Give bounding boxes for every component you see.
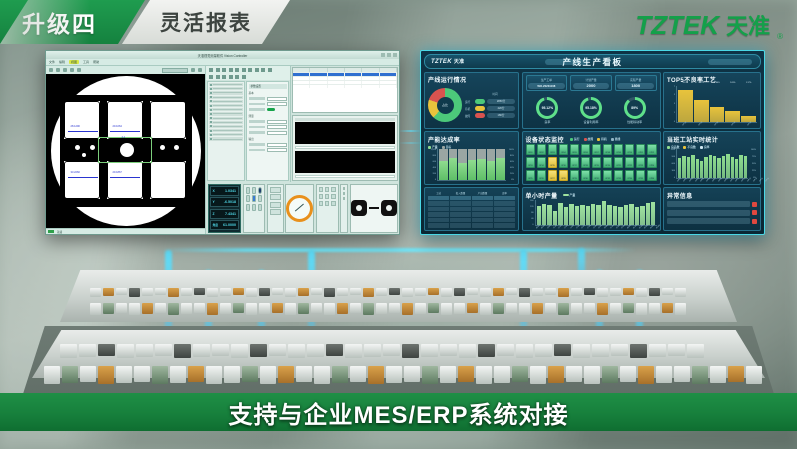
live-image-thumbnail[interactable] [295,122,395,144]
delete-tool-icon[interactable] [261,68,265,72]
factory-machine [278,366,294,383]
equipment-cell[interactable]: OP01 [526,144,536,156]
menu-item-tools[interactable]: 工具 [83,60,89,64]
factory-machine [259,303,270,314]
data-beam-horizontal [160,248,637,252]
preset-button[interactable] [325,194,330,199]
bar-segment [678,158,681,178]
cell [472,196,493,201]
bar [700,149,703,178]
kpi-label: 计划产量 [573,78,610,82]
equipment-cell[interactable]: OP33 [614,170,624,182]
jog-left-icon[interactable] [246,195,251,202]
factory-machine [493,303,504,314]
cell [494,201,515,206]
equipment-cell[interactable]: OP30 [581,170,591,182]
param-input[interactable] [267,102,287,106]
inspection-image-canvas[interactable]: 28.1290 29.1064 4.1 33.2260 29.1867 [46,74,205,228]
factory-machine [710,366,726,383]
equipment-cell[interactable]: OP32 [603,170,613,182]
factory-machine [168,288,179,297]
param-field-name[interactable] [249,143,287,147]
window-controls[interactable] [381,53,397,57]
bar [547,200,551,225]
equipment-cell[interactable]: OP34 [625,170,635,182]
list-item[interactable] [209,133,243,136]
list-item[interactable] [209,117,243,120]
axis-value-x: 1.0341 [221,189,237,193]
top5-y-axis: 75 310 [667,86,676,124]
list-item[interactable] [209,87,243,90]
preset-button[interactable] [319,194,324,199]
table-row[interactable] [293,84,397,88]
param-field-polarity[interactable] [249,102,287,106]
header-chip-datetime [708,59,752,65]
part-web [186,95,192,207]
list-item[interactable] [667,218,757,224]
param-field-subpixel[interactable] [249,108,287,112]
factory-machine [272,288,283,295]
preset-button[interactable] [331,187,336,192]
list-item[interactable] [209,91,243,94]
measurement-step-list[interactable] [207,81,245,181]
minimize-icon[interactable] [381,53,385,57]
legend-swatch [611,138,614,141]
param-input[interactable] [267,97,287,101]
bar [744,149,747,178]
legend-item-fault: 故障 180分 [465,113,515,118]
jog-home-icon[interactable] [252,195,257,202]
vision-menubar[interactable]: 文件 编辑 视图 工具 帮助 [46,59,399,66]
factory-machine [636,288,647,297]
legend-swatch-red [475,113,485,118]
shape-tool-row[interactable] [206,66,290,73]
list-item[interactable] [209,125,243,128]
table-row[interactable] [428,207,515,212]
step-unit-field[interactable] [270,209,281,215]
step-decrease-icon[interactable] [270,194,281,200]
factory-machine [134,366,150,382]
line-status-donut-chart: 占比 [428,88,462,122]
list-item[interactable] [209,100,243,103]
shift-y2-axis: 100%75% 50%25%0% [748,149,757,179]
step-increase-icon[interactable] [270,187,281,193]
equipment-cell[interactable]: OP28 [559,170,569,182]
y-tick: 600 [672,163,675,165]
focus-dial[interactable] [286,195,313,222]
bar [580,200,584,225]
alarm-list[interactable] [667,201,757,228]
run-tool-row[interactable] [206,73,290,80]
equipment-cell[interactable]: OP27 [548,170,558,182]
factory-machine [476,366,492,384]
jog-down-right-icon[interactable] [258,204,263,211]
jog-up-left-icon[interactable] [246,187,251,194]
factory-machine [638,366,654,384]
bar-segment-output [468,160,477,180]
param-field-unit[interactable] [249,148,287,152]
reference-image-thumbnail[interactable] [295,151,395,173]
gauge-value: 95.18% [585,106,597,110]
connector-bar-icon [369,207,379,210]
capacity-chart: 1,000800 600400 2000 100%80% 60%40% 20%0… [428,149,515,181]
panel-kpi-gauges: 生产工单 WO-20231108 计划产量 2000 实际产量 1800 95.… [522,72,661,129]
kpi-label: 实际产量 [617,78,654,82]
legend-idle: 待机 [597,137,607,141]
results-table[interactable] [292,67,398,113]
param-input[interactable] [267,125,287,129]
pan-icon[interactable] [63,68,67,72]
slider-track[interactable] [343,192,345,195]
new-icon[interactable] [209,75,213,79]
list-item[interactable] [667,201,757,207]
bar [709,149,712,178]
factory-machine [345,344,362,358]
equipment-cell[interactable]: OP24 [647,157,657,169]
viewport-toolbar[interactable] [46,66,205,74]
line-tool-icon[interactable] [216,68,220,72]
factory-machine [620,366,636,382]
factory-machine [532,288,543,296]
run-icon[interactable] [229,75,233,79]
cursor-icon[interactable] [49,68,53,72]
factory-machine [194,303,205,313]
equipment-cell[interactable]: OP29 [570,170,580,182]
list-item[interactable] [209,129,243,132]
registered-trademark-icon: ® [777,32,783,41]
list-item[interactable] [667,210,757,216]
preset-row[interactable] [319,201,336,206]
factory-machine [368,366,384,384]
step-icon[interactable] [242,75,246,79]
equipment-cell[interactable]: OP36 [647,170,657,182]
factory-machine [193,344,210,357]
cell [310,85,327,88]
save-icon[interactable] [222,75,226,79]
cell [428,196,449,201]
rect-tool-icon[interactable] [242,68,246,72]
more-tool-icon[interactable] [268,68,272,72]
factory-machine [220,303,231,314]
legend-swatch-green [475,99,485,104]
bar-segment [553,211,557,225]
polygon-tool-icon[interactable] [248,68,252,72]
factory-machine [116,303,127,313]
line-status-legend: 时间 运行 2850分 待机 420分 故障 [465,92,515,118]
menu-item-file[interactable]: 文件 [49,60,55,64]
equipment-cell[interactable]: OP04 [559,144,569,156]
bar-segment [726,154,729,178]
legend-text: 产量 [570,193,576,197]
equipment-cell[interactable]: OP23 [636,157,646,169]
arc-tool-icon[interactable] [229,68,233,72]
list-item[interactable] [209,108,243,111]
jog-pad[interactable] [243,184,266,233]
bar [726,149,729,178]
factory-machine [692,366,708,384]
gauge-ring: 95.12% [536,97,558,119]
equipment-cell[interactable]: OP16 [559,157,569,169]
jog-down-icon[interactable] [252,204,257,211]
factory-machine [311,303,322,313]
preset-button[interactable] [331,194,336,199]
cell [328,85,345,88]
image-compare-pane [292,115,398,182]
light-intensity-panel[interactable] [340,184,348,233]
bar [722,149,725,178]
machine-row-upper [90,303,686,315]
dashboard-bottom-row: 工站 投入数量 产出数量 良率 单小时产量 产量 [424,187,761,231]
param-field-tolerance[interactable] [249,131,287,135]
factory-machine [117,344,134,358]
cell [472,218,493,223]
list-item[interactable] [209,104,243,107]
dimension-label: 33.2260 [71,171,80,174]
status-text: 就绪 [57,230,62,234]
col-yield: 良率 [494,191,515,195]
equipment-cell[interactable]: OP35 [636,170,646,182]
axis-label-x: X [213,189,221,193]
jog-up-icon[interactable] [252,187,257,194]
panel-top5-defects: TOP5不良率工艺 75 310 6.12%4.27%2.86%2.05%1.1… [663,72,761,129]
zoom-icon[interactable] [56,68,60,72]
equipment-cell[interactable]: OP08 [603,144,613,156]
preset-row[interactable] [319,194,336,199]
bar [553,200,557,225]
preset-button[interactable] [325,187,330,192]
menu-item-help[interactable]: 帮助 [93,60,99,64]
equipment-cell[interactable]: OP20 [603,157,613,169]
factory-machine [233,288,244,295]
caption-banner: 支持与企业MES/ERP系统对接 [0,393,797,431]
param-input[interactable] [267,143,287,147]
equipment-cell[interactable]: OP13 [526,157,536,169]
equipment-cell[interactable]: OP10 [625,144,635,156]
param-input[interactable] [267,148,287,152]
legend-swatch [597,138,600,141]
table-row[interactable] [428,218,515,223]
factory-machine [272,303,283,313]
roi-selection-box[interactable] [98,137,152,163]
factory-machine [519,303,530,315]
menu-item-view[interactable]: 视图 [69,60,79,64]
equipment-cell[interactable]: OP17 [570,157,580,169]
table-row[interactable] [428,201,515,206]
factory-machine [623,303,634,313]
equipment-cell[interactable]: OP15 [548,157,558,169]
measure-icon[interactable] [70,68,74,72]
bar [735,149,738,178]
list-item[interactable] [209,96,243,99]
factory-machine [246,303,257,315]
bar-segment [709,155,712,178]
equipment-cell[interactable]: OP18 [581,157,591,169]
factory-machine [415,288,426,296]
param-toggle[interactable] [267,108,275,112]
preset-button[interactable] [325,201,330,206]
factory-machine [548,366,564,383]
bar [682,149,685,178]
equipment-cell[interactable]: OP22 [625,157,635,169]
factory-machine [662,288,673,295]
bar-segment [731,157,734,178]
preset-button[interactable] [331,201,336,206]
equipment-cell[interactable]: OP12 [647,144,657,156]
bar-segment [687,157,690,178]
list-item[interactable] [209,137,243,140]
part-corner-hole [66,103,73,110]
bar-segment [651,202,655,224]
cell [472,207,493,212]
bar-segment [596,205,600,224]
bar-segment [646,203,650,225]
equipment-cell[interactable]: OP21 [614,157,624,169]
step-size-panel[interactable] [267,184,284,233]
close-icon[interactable] [393,53,397,57]
step-value-field[interactable] [270,202,281,208]
preset-row[interactable] [319,187,336,192]
equipment-legend: 运行 故障 待机 离线 [570,137,620,141]
bar-segment-output [458,163,467,180]
factory-machine [597,303,608,315]
equipment-cell[interactable]: OP14 [537,157,547,169]
table-row[interactable] [428,212,515,217]
preset-button-grid[interactable] [316,184,339,233]
part-web [60,95,192,101]
param-field-threshold[interactable] [249,97,287,101]
cell [450,207,471,212]
bar-segment [744,156,747,178]
param-field-radius[interactable] [249,120,287,124]
part-outline: 28.1290 29.1064 4.1 33.2260 29.1867 [60,95,192,207]
station-table[interactable]: 工站 投入数量 产出数量 良率 [428,191,515,228]
legend-value: 180分 [487,113,515,118]
preset-button[interactable] [319,201,324,206]
param-input[interactable] [267,131,287,135]
list-item[interactable] [209,83,243,86]
factory-machine [174,344,191,358]
jog-settings-gear-icon[interactable] [258,187,263,194]
brand-mark-text: TZTEK [635,10,719,41]
equipment-cell[interactable]: OP09 [614,144,624,156]
param-input[interactable] [267,120,287,124]
equipment-cell[interactable]: OP02 [537,144,547,156]
bar-value-label: 2.86% [714,82,719,84]
equipment-cell[interactable]: OP31 [592,170,602,182]
parameter-form[interactable]: 参数设置 基本 [246,81,289,181]
point-tool-icon[interactable] [209,68,213,72]
factory-machine [630,344,647,358]
production-dashboard-window[interactable]: TZTEK天准 产线生产看板 产线运行情况 占比 时间 运行 [420,50,765,235]
jog-down-left-icon[interactable] [246,204,251,211]
legend-item-idle: 待机 420分 [465,106,515,111]
equipment-cell[interactable]: OP25 [526,170,536,182]
light-bulb-icon[interactable] [77,68,81,72]
factory-machine [530,366,546,384]
slider-track[interactable] [343,197,345,200]
legend-swatch-yellow [475,106,485,111]
factory-machine [363,288,374,297]
part-hole [174,145,179,150]
angle-tool-icon[interactable] [235,68,239,72]
equipment-cell[interactable]: OP06 [581,144,591,156]
bar-segment [586,206,590,224]
factory-machine [207,288,218,297]
gauge-ring: 95.18% [580,97,602,119]
bar-segment [635,207,639,225]
preset-button[interactable] [319,187,324,192]
focus-dial-panel[interactable] [285,184,314,233]
factory-machine [675,303,686,315]
save-image-icon[interactable] [191,68,195,72]
stop-icon[interactable] [235,75,239,79]
equipment-cell[interactable]: OP05 [570,144,580,156]
maximize-icon[interactable] [387,53,391,57]
settings-icon[interactable] [198,68,202,72]
equipment-cell[interactable]: OP03 [548,144,558,156]
circle-tool-icon[interactable] [222,68,226,72]
equipment-cell[interactable]: OP07 [592,144,602,156]
distance-tool-icon[interactable] [255,68,259,72]
cell [345,85,362,88]
equipment-status-grid[interactable]: OP01OP02OP03OP04OP05OP06OP07OP08OP09OP10… [526,144,657,182]
measure-mode-button[interactable] [162,68,188,73]
equipment-cell[interactable]: OP19 [592,157,602,169]
factory-machine [478,344,495,357]
reference-image-caption [295,175,395,179]
table-row[interactable] [428,196,515,201]
equipment-cell[interactable]: OP11 [636,144,646,156]
factory-machine [168,303,179,315]
col-output: 产出数量 [472,191,493,195]
table-row[interactable] [428,223,515,228]
slider-track[interactable] [343,187,345,190]
bar-segment-output [449,158,458,180]
factory-machine [298,303,309,314]
bar [696,149,699,178]
vision-software-window[interactable]: 天准视觉测量软件 Vision Controller 文件 编辑 视图 工具 帮… [45,50,400,235]
factory-machine [324,303,335,315]
factory-machine [402,303,413,315]
part-preview-panel [350,184,398,233]
bar-segment-output [439,161,448,180]
menu-item-edit[interactable]: 编辑 [59,60,65,64]
bar [629,200,633,225]
factory-machine [98,344,115,356]
bar-segment [629,204,633,225]
bar [602,200,606,225]
factory-machine [592,344,609,357]
list-item[interactable] [209,121,243,124]
shift-x-axis: OP01OP02OP03OP04OP05OP06OP07OP08OP09OP10… [667,179,757,181]
bar-segment [678,90,693,122]
factory-machine [389,288,400,295]
jog-right-icon[interactable] [258,195,263,202]
param-field-samples[interactable] [249,125,287,129]
y2-tick: 40% [510,167,514,169]
open-icon[interactable] [216,75,220,79]
factory-machine [364,344,381,357]
factory-machine [129,303,140,315]
results-pane [291,66,399,182]
factory-machine [597,288,608,297]
list-item[interactable] [209,112,243,115]
param-label [249,126,265,129]
equipment-cell[interactable]: OP26 [537,170,547,182]
bar [646,200,650,225]
bar-segment [624,205,628,225]
y-tick: 3 [674,103,675,105]
